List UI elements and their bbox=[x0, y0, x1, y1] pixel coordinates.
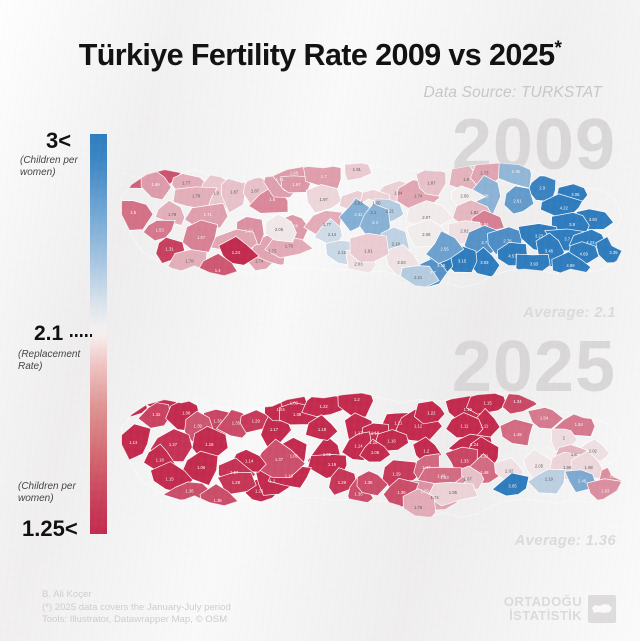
province-value-label: 4.57 bbox=[508, 253, 517, 258]
province-value-label: 2.7 bbox=[481, 240, 488, 245]
province-value-label: 2.1 bbox=[370, 210, 377, 215]
province-value-label: 2.9 bbox=[539, 185, 546, 190]
province-value-label: 2.15 bbox=[338, 250, 347, 255]
footer-credits: B. Ali Koçer (*) 2025 data covers the Ja… bbox=[42, 589, 231, 627]
province-value-label: 1.47 bbox=[422, 465, 431, 470]
province-value-label: 1.73 bbox=[268, 248, 277, 253]
province-value-label: 1.74 bbox=[431, 495, 440, 500]
province-value-label: 2.18 bbox=[392, 242, 401, 247]
province-value-label: 1.15 bbox=[484, 400, 493, 405]
map-svg-2009: 1.431.381.691.771.91.781.871.871.61.711.… bbox=[110, 116, 640, 331]
province-value-label: 1.29 bbox=[392, 472, 401, 477]
legend-min-sublabel: (Children per women) bbox=[18, 481, 96, 505]
province-value-label: 1.19 bbox=[328, 462, 337, 467]
province-value-label: 1.54 bbox=[575, 422, 584, 427]
province-value-label: 1.93 bbox=[354, 200, 363, 205]
choropleth-map-2025: 1.071.121.321.081.331.391.351.291.171.04… bbox=[110, 346, 640, 561]
legend-min-value: 1.25< bbox=[22, 516, 78, 542]
province-value-label: 2.7 bbox=[430, 270, 437, 275]
province-value-label: 1.14 bbox=[354, 444, 363, 449]
province-value-label: 1.03 bbox=[290, 400, 299, 405]
province-value-label: 1.33 bbox=[214, 419, 223, 424]
province-value-label: 1.15 bbox=[166, 477, 175, 482]
province-value-label: 1.43 bbox=[131, 174, 140, 179]
province-value-label: 1.37 bbox=[275, 457, 284, 462]
province-value-label: 1.28 bbox=[232, 480, 241, 485]
province-value-label: 1.11 bbox=[460, 424, 469, 429]
province-value-label: 1.39 bbox=[194, 424, 203, 429]
legend-max-value: 3< bbox=[46, 128, 71, 154]
province-value-label: 1.14 bbox=[245, 458, 254, 463]
province-value-label: 2.61 bbox=[513, 199, 522, 204]
province-value-label: 1.17 bbox=[270, 427, 279, 432]
footer-author: B. Ali Koçer bbox=[42, 589, 231, 602]
province-value-label: 3.15 bbox=[437, 263, 446, 268]
province-value-label: 2.42 bbox=[354, 212, 363, 217]
province-value-label: 1.36 bbox=[185, 488, 194, 493]
province-value-label: 1.07 bbox=[131, 404, 140, 409]
province-value-label: 2.55 bbox=[440, 247, 449, 252]
choropleth-map-2009: 1.431.381.691.771.91.781.871.871.61.711.… bbox=[110, 116, 640, 331]
province-value-label: 1.87 bbox=[427, 180, 436, 185]
province-value-label: 1.94 bbox=[394, 190, 403, 195]
province-value-label: 1.27 bbox=[169, 442, 178, 447]
province-value-label: 2.06 bbox=[275, 227, 284, 232]
footer-note: (*) 2025 data covers the January-July pe… bbox=[42, 602, 231, 615]
province-value-label: 1.04 bbox=[276, 407, 285, 412]
province-value-label: 1.2 bbox=[423, 449, 430, 454]
brand-name-line2: İSTATİSTİK bbox=[504, 609, 582, 623]
province-value-label: 1.2 bbox=[354, 397, 361, 402]
province-value-label: 1.98 bbox=[585, 465, 594, 470]
province-value-label: 1.82 bbox=[470, 210, 479, 215]
province-value-label: 1.53 bbox=[156, 228, 165, 233]
map-svg-2025: 1.071.121.321.081.331.391.351.291.171.04… bbox=[110, 346, 640, 561]
province-value-label: 1.8 bbox=[571, 452, 578, 457]
province-value-label: 1.56 bbox=[480, 222, 489, 227]
province-value-label: 4.23 bbox=[586, 240, 595, 245]
province-value-label: 1.36 bbox=[354, 492, 363, 497]
province-value-label: 1.22 bbox=[427, 410, 436, 415]
province-value-label: 1.35 bbox=[232, 420, 241, 425]
province-value-label: 1.74 bbox=[255, 258, 264, 263]
province-value-label: 1.73 bbox=[480, 170, 489, 175]
data-source-label: Data Source: TURKSTAT bbox=[424, 84, 602, 102]
province-value-label: 1.48 bbox=[480, 470, 489, 475]
province-value-label: 2.02 bbox=[460, 228, 469, 233]
province-value-label: 2.19 bbox=[545, 477, 554, 482]
province-value-label: 1.77 bbox=[182, 180, 191, 185]
province-value-label: 2.02 bbox=[505, 468, 514, 473]
province-value-label: 1.18 bbox=[318, 427, 327, 432]
province-value-label: 3.46 bbox=[545, 248, 554, 253]
province-value-label: 1.74 bbox=[414, 194, 423, 199]
average-label-2025: Average: 1.36 bbox=[515, 532, 616, 549]
legend-replacement-dotted-line bbox=[70, 334, 92, 337]
province-value-label: 1.78 bbox=[168, 212, 177, 217]
province-value-label: 1.78 bbox=[192, 194, 201, 199]
province-value-label: 1.22 bbox=[320, 404, 329, 409]
province-value-label: 2.09 bbox=[460, 194, 469, 199]
province-value-label: 1.48 bbox=[437, 473, 446, 478]
province-value-label: 1.71 bbox=[204, 212, 213, 217]
province-value-label: 3.06 bbox=[571, 192, 580, 197]
footer-tools: Tools: Illustrator, Datawrapper Map, © O… bbox=[42, 614, 231, 627]
province-value-label: 1.28 bbox=[338, 480, 347, 485]
province-value-label: 1.5 bbox=[130, 210, 137, 215]
province-value-label: 3.05 bbox=[508, 483, 517, 488]
province-value-label: 1.25 bbox=[255, 488, 264, 493]
province-value-label: 3.93 bbox=[589, 217, 598, 222]
legend-mid-sublabel: (Replacement Rate) bbox=[18, 349, 96, 373]
province-value-label: 1.02 bbox=[323, 452, 332, 457]
province-value-label: 1.95 bbox=[449, 490, 458, 495]
province-value-label: 2.08 bbox=[422, 232, 431, 237]
province-value-label: 1.33 bbox=[460, 458, 469, 463]
legend-gradient-bar bbox=[90, 134, 107, 534]
province-value-label: 1.63 bbox=[601, 488, 610, 493]
province-value-label: 1.76 bbox=[414, 505, 423, 510]
province-value-label: 1.29 bbox=[252, 419, 261, 424]
province-value-label: 1.97 bbox=[320, 197, 329, 202]
province-value-label: 1.27 bbox=[230, 470, 239, 475]
title-asterisk: * bbox=[554, 38, 561, 59]
province-value-label: 1.64 bbox=[245, 228, 254, 233]
province-value-label: 3.15 bbox=[458, 258, 467, 263]
province-value-label: 2.38 bbox=[480, 194, 489, 199]
province-value-label: 1.32 bbox=[152, 412, 161, 417]
province-value-label: 1.18 bbox=[371, 430, 380, 435]
province-value-label: 2.02 bbox=[589, 449, 598, 454]
province-value-label: 2.14 bbox=[328, 232, 337, 237]
province-value-label: 1.48 bbox=[513, 432, 522, 437]
province-value-label: 1.34 bbox=[513, 399, 522, 404]
brand-name-line1: ORTADOĞU bbox=[504, 595, 582, 609]
province-value-label: 2.07 bbox=[422, 215, 431, 220]
province-value-label: 1.91 bbox=[364, 248, 373, 253]
province-value-label: 1.08 bbox=[182, 410, 191, 415]
brand-logo: ORTADOĞU İSTATİSTİK bbox=[504, 595, 616, 623]
province-value-label: 1.06 bbox=[290, 453, 299, 458]
province-value-label: 1.65 bbox=[421, 488, 430, 493]
page-title-text: Türkiye Fertility Rate 2009 vs 2025 bbox=[79, 38, 555, 72]
province-value-label: 1.08 bbox=[293, 412, 302, 417]
province-value-label: 1.12 bbox=[414, 424, 423, 429]
province-value-label: 1.11 bbox=[480, 424, 489, 429]
province-value-label: 1.57 bbox=[197, 235, 206, 240]
province-value-label: 1.16 bbox=[369, 440, 378, 445]
province-value-label: 1.95 bbox=[373, 200, 382, 205]
province-value-label: 1.18 bbox=[156, 458, 165, 463]
province-value-label: 1.13 bbox=[129, 440, 138, 445]
province-value-label: 1.68 bbox=[290, 170, 299, 175]
average-label-2009: Average: 2.1 bbox=[523, 304, 616, 321]
province-value-label: 1.91 bbox=[353, 167, 362, 172]
province-value-label: 4.22 bbox=[560, 205, 569, 210]
province-value-label: 3.23 bbox=[535, 233, 544, 238]
province-value-label: 1.87 bbox=[230, 190, 239, 195]
legend-mid-value: 2.1 bbox=[34, 322, 63, 346]
logo-turkey-shape-icon bbox=[591, 602, 613, 616]
province-value-label: 1.2 bbox=[269, 478, 276, 483]
province-value-label: 2.03 bbox=[354, 262, 363, 267]
province-value-label: 1.9 bbox=[213, 190, 220, 195]
province-value-label: 3.93 bbox=[480, 260, 489, 265]
province-value-label: 2.35 bbox=[512, 169, 521, 174]
province-value-label: 3.8 bbox=[569, 222, 576, 227]
province-value-label: 2.05 bbox=[535, 463, 544, 468]
province-value-label: 1.69 bbox=[151, 182, 160, 187]
province-value-label: 1.4 bbox=[215, 268, 222, 273]
province-value-label: 1.87 bbox=[464, 477, 473, 482]
province-area[interactable] bbox=[114, 200, 153, 230]
infographic-canvas: Türkiye Fertility Rate 2009 vs 2025* Dat… bbox=[0, 0, 640, 641]
brand-logo-text: ORTADOĞU İSTATİSTİK bbox=[504, 595, 582, 623]
province-value-label: 1.36 bbox=[214, 498, 223, 503]
province-value-label: 2.76 bbox=[503, 238, 512, 243]
province-value-label: 2.21 bbox=[386, 209, 395, 214]
province-value-label: 1.36 bbox=[397, 490, 406, 495]
province-value-label: 1.36 bbox=[364, 480, 373, 485]
province-value-label: 1.76 bbox=[285, 243, 294, 248]
province-value-label: 1.54 bbox=[540, 415, 549, 420]
province-value-label: 1.19 bbox=[285, 473, 294, 478]
province-value-label: 1.24 bbox=[470, 442, 479, 447]
province-value-label: 3.93 bbox=[530, 262, 539, 267]
province-value-label: 1.06 bbox=[197, 465, 206, 470]
province-value-label: 4.69 bbox=[580, 252, 589, 257]
province-value-label: 2.46 bbox=[578, 478, 587, 483]
province-value-label: 1.77 bbox=[323, 222, 332, 227]
province-value-label: 1.71 bbox=[276, 177, 285, 182]
brand-map-icon bbox=[588, 595, 616, 623]
province-value-label: 3.35 bbox=[609, 250, 618, 255]
province-value-label: 1.31 bbox=[166, 247, 175, 252]
province-value-label: 1.17 bbox=[354, 430, 363, 435]
province-value-label: 1.78 bbox=[185, 258, 194, 263]
province-value-label: 2.21 bbox=[414, 275, 423, 280]
province-value-label: 1.6 bbox=[269, 197, 276, 202]
province-value-label: 1.74 bbox=[230, 240, 239, 245]
page-title: Türkiye Fertility Rate 2009 vs 2025* bbox=[79, 38, 562, 73]
province-value-label: 1.8 bbox=[463, 177, 470, 182]
province-value-label: 1.05 bbox=[371, 450, 380, 455]
province-value-label: 2.4 bbox=[372, 220, 379, 225]
province-value-label: 1.16 bbox=[387, 439, 396, 444]
province-value-label: 1.7 bbox=[321, 174, 328, 179]
province-value-label: 1.67 bbox=[292, 182, 301, 187]
province-value-label: 3.7 bbox=[564, 237, 571, 242]
province-value-label: 1.68 bbox=[290, 223, 299, 228]
province-value-label: 1.21 bbox=[480, 453, 489, 458]
province-value-label: 1.18 bbox=[205, 442, 214, 447]
province-value-label: 1.21 bbox=[394, 420, 403, 425]
province-value-label: 4.69 bbox=[566, 263, 575, 268]
province-value-label: 2.03 bbox=[397, 260, 406, 265]
province-value-label: 1.87 bbox=[251, 189, 260, 194]
legend-max-sublabel: (Children per women) bbox=[20, 155, 92, 179]
province-value-label: 1.24 bbox=[232, 250, 241, 255]
province-value-label: 1.19 bbox=[464, 407, 473, 412]
province-value-label: 1.96 bbox=[563, 465, 572, 470]
